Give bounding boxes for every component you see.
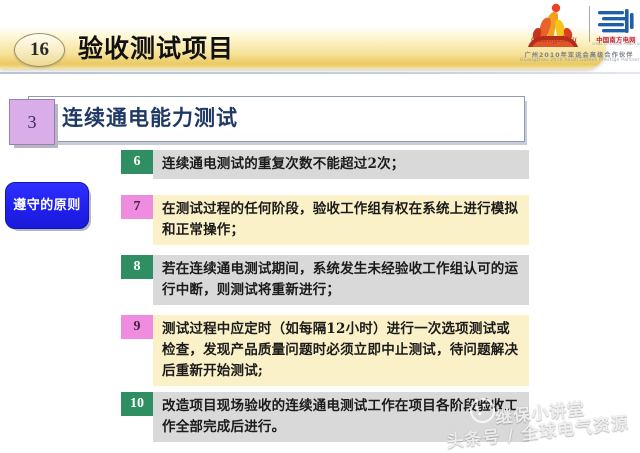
china-southern-power-grid-icon <box>596 8 636 34</box>
logo-divider <box>589 6 590 42</box>
item-number-7: 7 <box>121 195 153 219</box>
item-number-8: 8 <box>121 255 153 279</box>
item-text-8: 若在连续通电测试期间，系统发生未经验收工作组认可的运行中断，则测试将重新进行； <box>153 255 529 305</box>
slide-canvas: 16 验收测试项目 Guangzhou 中国南方电网 CHINA SOUTHER… <box>0 0 640 443</box>
list-item: 8 若在连续通电测试期间，系统发生未经验收工作组认可的运行中断，则测试将重新进行… <box>121 255 529 305</box>
subtitle-heading: 连续通电能力测试 <box>62 96 238 140</box>
subtitle-number-badge: 3 <box>9 99 55 145</box>
list-item: 9 测试过程中应定时（如每隔12小时）进行一次选项测试或检查，发现产品质量问题时… <box>121 315 529 386</box>
list-item: 6 连续通电测试的重复次数不能超过2次； <box>121 150 529 179</box>
page-title: 验收测试项目 <box>78 33 234 65</box>
item-number-9: 9 <box>121 315 153 339</box>
partner-line-en: Guangzhou 2010 Asian Games Prestige Part… <box>520 58 638 63</box>
item-text-6: 连续通电测试的重复次数不能超过2次； <box>153 150 529 179</box>
grid-brand-name-en: CHINA SOUTHERN POWER GRID <box>592 42 640 46</box>
list-item: 7 在测试过程的任何阶段，验收工作组有权在系统上进行模拟和正常操作； <box>121 195 529 245</box>
header-underline-divider <box>0 72 640 74</box>
principle-badge: 遵守的原则 <box>5 182 89 229</box>
item-number-6: 6 <box>121 150 153 174</box>
subtitle-number: 3 <box>10 100 54 144</box>
sponsor-logo-cluster: Guangzhou 中国南方电网 CHINA SOUTHERN POWER GR… <box>520 2 638 64</box>
header-number-badge: 16 <box>14 33 65 67</box>
header-badge-number: 16 <box>15 34 64 66</box>
guangzhou-script-wordmark: Guangzhou <box>522 35 586 44</box>
item-text-7: 在测试过程的任何阶段，验收工作组有权在系统上进行模拟和正常操作； <box>153 195 529 245</box>
list-item: 10 改造项目现场验收的连续通电测试工作在项目各阶段验收工作全部完成后进行。 <box>121 392 529 442</box>
item-text-9: 测试过程中应定时（如每隔12小时）进行一次选项测试或检查，发现产品质量问题时必须… <box>153 315 529 386</box>
item-number-10: 10 <box>121 392 153 416</box>
principle-badge-label: 遵守的原则 <box>6 183 88 228</box>
